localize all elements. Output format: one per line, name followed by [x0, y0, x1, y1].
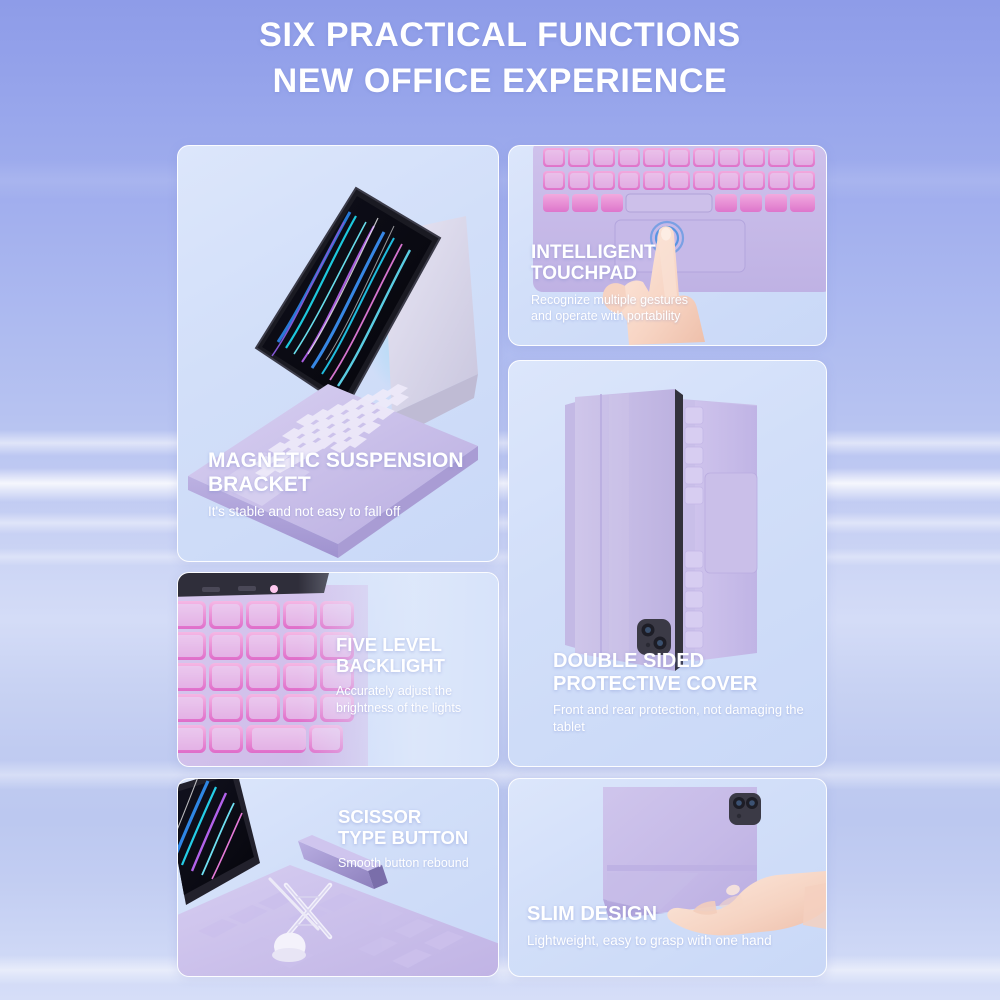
- card-description: Lightweight, easy to grasp with one hand: [527, 932, 817, 950]
- feature-card-scissor-type-button[interactable]: SCISSOR TYPE BUTTON Smooth button reboun…: [177, 778, 499, 977]
- light-streak: [0, 548, 1000, 566]
- headline-line-2: NEW OFFICE EXPERIENCE: [0, 58, 1000, 104]
- feature-card-five-level-backlight[interactable]: FIVE LEVEL BACKLIGHT Accurately adjust t…: [177, 572, 499, 767]
- light-streak: [0, 160, 1000, 200]
- card-description: Front and rear protection, not damaging …: [553, 702, 818, 736]
- page-header: SIX PRACTICAL FUNCTIONS NEW OFFICE EXPER…: [0, 12, 1000, 104]
- card-description: It's stable and not easy to fall off: [208, 503, 478, 521]
- card-text-block: SLIM DESIGN Lightweight, easy to grasp w…: [527, 903, 817, 950]
- card-text-block: SCISSOR TYPE BUTTON Smooth button reboun…: [338, 807, 496, 872]
- card-description: Accurately adjust the brightness of the …: [336, 683, 494, 716]
- card-title: MAGNETIC SUSPENSION BRACKET: [208, 449, 478, 496]
- card-text-block: INTELLIGENT TOUCHPAD Recognize multiple …: [531, 242, 691, 324]
- card-title: SLIM DESIGN: [527, 903, 817, 925]
- light-streak: [0, 468, 1000, 502]
- card-text-block: FIVE LEVEL BACKLIGHT Accurately adjust t…: [336, 635, 494, 716]
- feature-card-magnetic-suspension-bracket[interactable]: MAGNETIC SUSPENSION BRACKET It's stable …: [177, 145, 499, 562]
- feature-card-double-sided-protective-cover[interactable]: DOUBLE SIDED PROTECTIVE COVER Front and …: [508, 360, 827, 767]
- background-gradient: [0, 0, 1000, 1000]
- feature-card-slim-design[interactable]: SLIM DESIGN Lightweight, easy to grasp w…: [508, 778, 827, 977]
- card-description: Smooth button rebound: [338, 855, 496, 871]
- card-title: SCISSOR TYPE BUTTON: [338, 807, 496, 848]
- card-title: DOUBLE SIDED PROTECTIVE COVER: [553, 650, 818, 695]
- light-streak: [0, 430, 1000, 456]
- light-streak: [0, 760, 1000, 790]
- light-streak: [0, 512, 1000, 534]
- feature-card-intelligent-touchpad[interactable]: INTELLIGENT TOUCHPAD Recognize multiple …: [508, 145, 827, 346]
- light-streak: [0, 955, 1000, 985]
- card-title: INTELLIGENT TOUCHPAD: [531, 242, 691, 285]
- card-text-block: DOUBLE SIDED PROTECTIVE COVER Front and …: [553, 650, 818, 736]
- card-description: Recognize multiple gestures and operate …: [531, 292, 691, 325]
- headline-line-1: SIX PRACTICAL FUNCTIONS: [0, 12, 1000, 58]
- card-title: FIVE LEVEL BACKLIGHT: [336, 635, 494, 676]
- card-text-block: MAGNETIC SUSPENSION BRACKET It's stable …: [208, 449, 478, 521]
